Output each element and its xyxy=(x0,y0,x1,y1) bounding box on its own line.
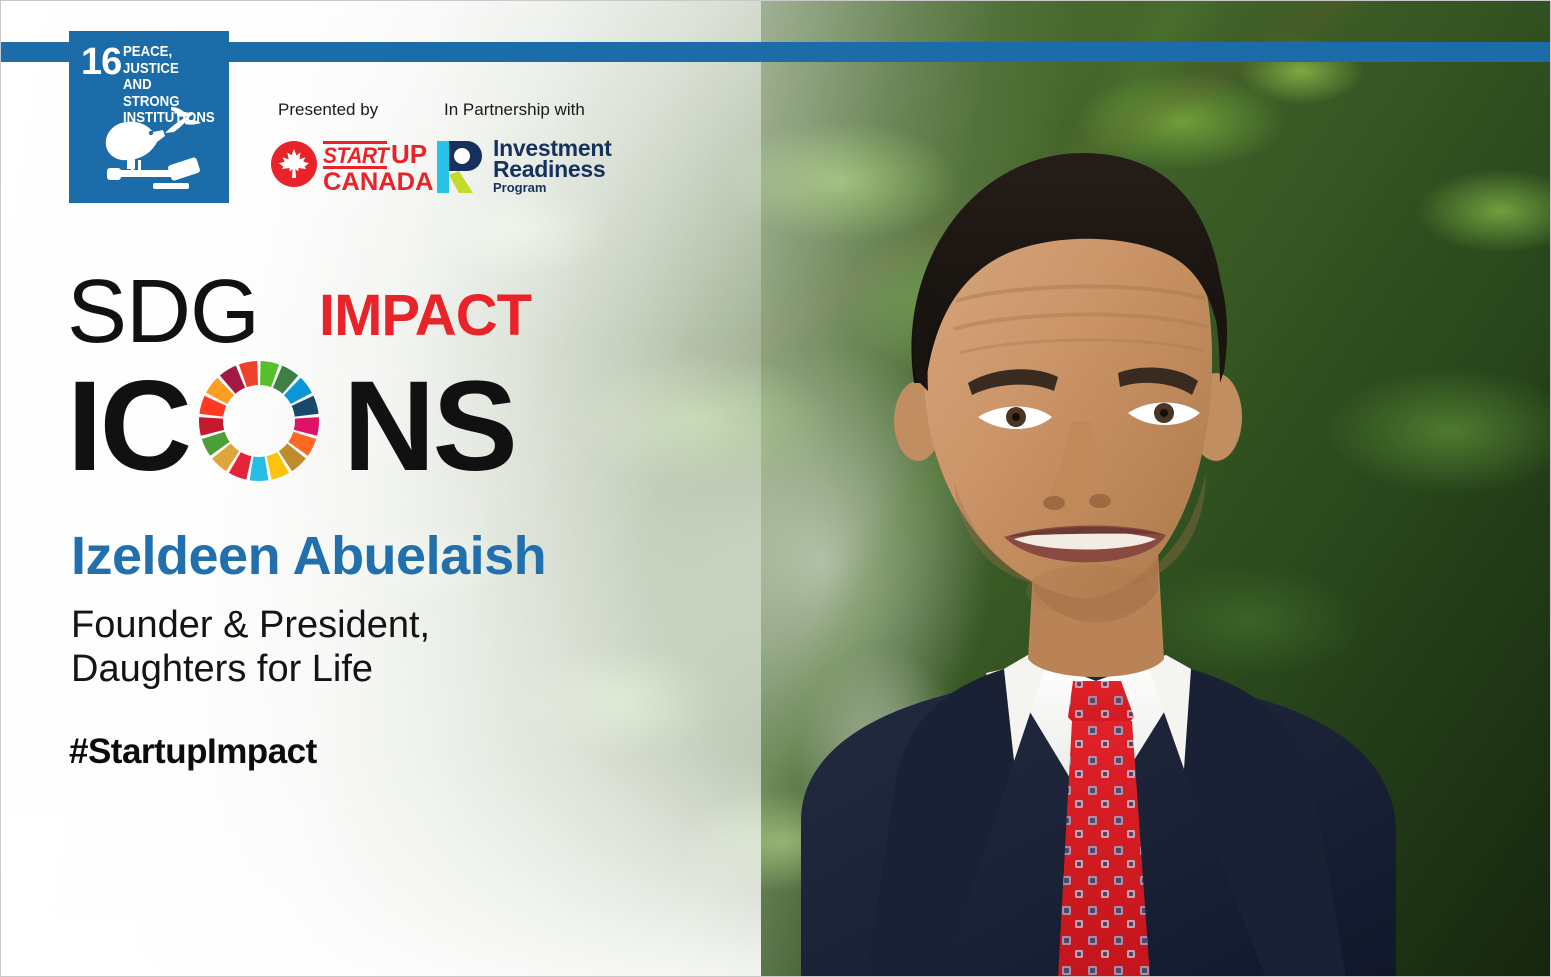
campaign-hashtag: #StartupImpact xyxy=(69,732,317,772)
startup-canada-up-text: UP xyxy=(391,139,427,170)
startup-canada-logo: START UP CANADA xyxy=(271,139,416,191)
dove-and-gavel-icon xyxy=(91,103,209,195)
irp-line-2: Readiness xyxy=(493,156,605,183)
wordmark-icons-right-text: NS xyxy=(343,363,515,491)
sdg-wheel-segment xyxy=(294,417,319,436)
sdg-colour-wheel-icon xyxy=(195,357,323,485)
speaker-portrait xyxy=(746,121,1436,977)
investment-readiness-program-logo: Investment Readiness Program xyxy=(437,135,607,197)
sdg-goal-title-line-1: PEACE, JUSTICE xyxy=(123,44,211,77)
sdg-goal-16-badge: 16 PEACE, JUSTICE AND STRONG INSTITUTION… xyxy=(69,31,229,203)
promo-graphic-canvas: 16 PEACE, JUSTICE AND STRONG INSTITUTION… xyxy=(0,0,1551,977)
speaker-role-line-2: Daughters for Life xyxy=(71,647,430,691)
irp-line-3: Program xyxy=(493,180,546,195)
wordmark-sdg-text: SDG xyxy=(67,267,259,357)
startup-canada-canada-text: CANADA xyxy=(323,168,433,197)
sdg-goal-number: 16 xyxy=(81,43,121,81)
wordmark-icons-left-text: IC xyxy=(67,363,189,491)
in-partnership-with-label: In Partnership with xyxy=(444,100,585,120)
wordmark-impact-text: IMPACT xyxy=(319,287,531,345)
letter-r-mark-icon xyxy=(437,135,485,193)
top-blue-stripe xyxy=(1,42,1551,62)
sdg-impact-icons-wordmark: SDG IMPACT IC NS xyxy=(67,267,537,489)
sdg-wheel-segment xyxy=(250,457,269,481)
speaker-role-line-1: Founder & President, xyxy=(71,603,430,647)
sdg-wheel-segment xyxy=(199,417,224,436)
presented-by-label: Presented by xyxy=(278,100,378,120)
speaker-name: Izeldeen Abuelaish xyxy=(71,525,546,587)
speaker-role: Founder & President, Daughters for Life xyxy=(71,603,430,691)
maple-leaf-icon xyxy=(271,141,317,187)
